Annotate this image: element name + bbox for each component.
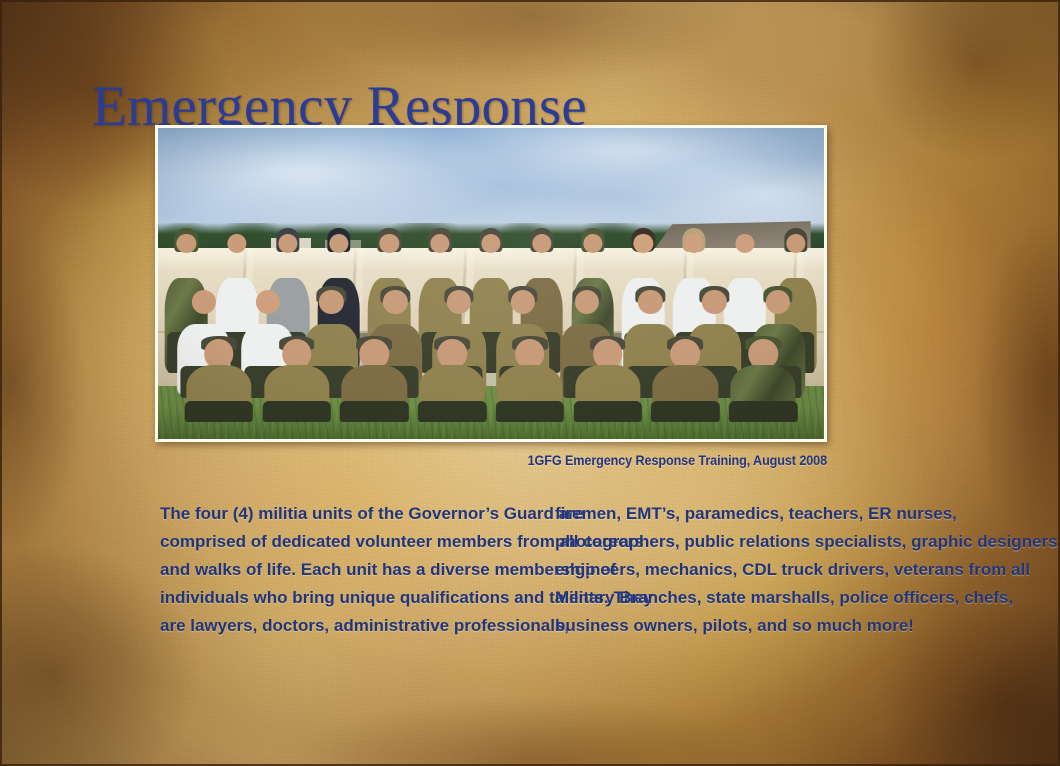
person-figure	[258, 339, 336, 420]
group-photograph	[158, 128, 824, 439]
text-line: engineers, mechanics, CDL truck drivers,…	[555, 556, 935, 584]
left-column-paragraph: The four (4) militia units of the Govern…	[160, 500, 532, 640]
person-figure	[647, 339, 725, 420]
photo-row-front	[158, 339, 824, 420]
text-line: business owners, pilots, and so much mor…	[555, 612, 935, 640]
person-figure	[569, 339, 647, 420]
photo-frame	[155, 125, 827, 442]
person-figure	[336, 339, 414, 420]
text-line: are lawyers, doctors, administrative pro…	[160, 612, 532, 640]
text-line: individuals who bring unique qualificati…	[160, 584, 532, 612]
text-line: and walks of life. Each unit has a diver…	[160, 556, 532, 584]
text-line: The four (4) militia units of the Govern…	[160, 500, 532, 528]
body-text-right-column: firemen, EMT’s, paramedics, teachers, ER…	[555, 500, 935, 640]
photo-caption: 1GFG Emergency Response Training, August…	[470, 452, 827, 468]
text-line: photographers, public relations speciali…	[555, 528, 935, 556]
text-line: comprised of dedicated volunteer members…	[160, 528, 532, 556]
person-figure	[413, 339, 491, 420]
right-column-paragraph: firemen, EMT’s, paramedics, teachers, ER…	[555, 500, 935, 640]
text-line: firemen, EMT’s, paramedics, teachers, ER…	[555, 500, 935, 528]
body-text-left-column: The four (4) militia units of the Govern…	[160, 500, 532, 640]
person-figure	[180, 339, 258, 420]
presentation-slide: Emergency Response	[0, 0, 1060, 766]
person-figure	[724, 339, 802, 420]
person-figure	[491, 339, 569, 420]
text-line: Military Branches, state marshalls, poli…	[555, 584, 935, 612]
